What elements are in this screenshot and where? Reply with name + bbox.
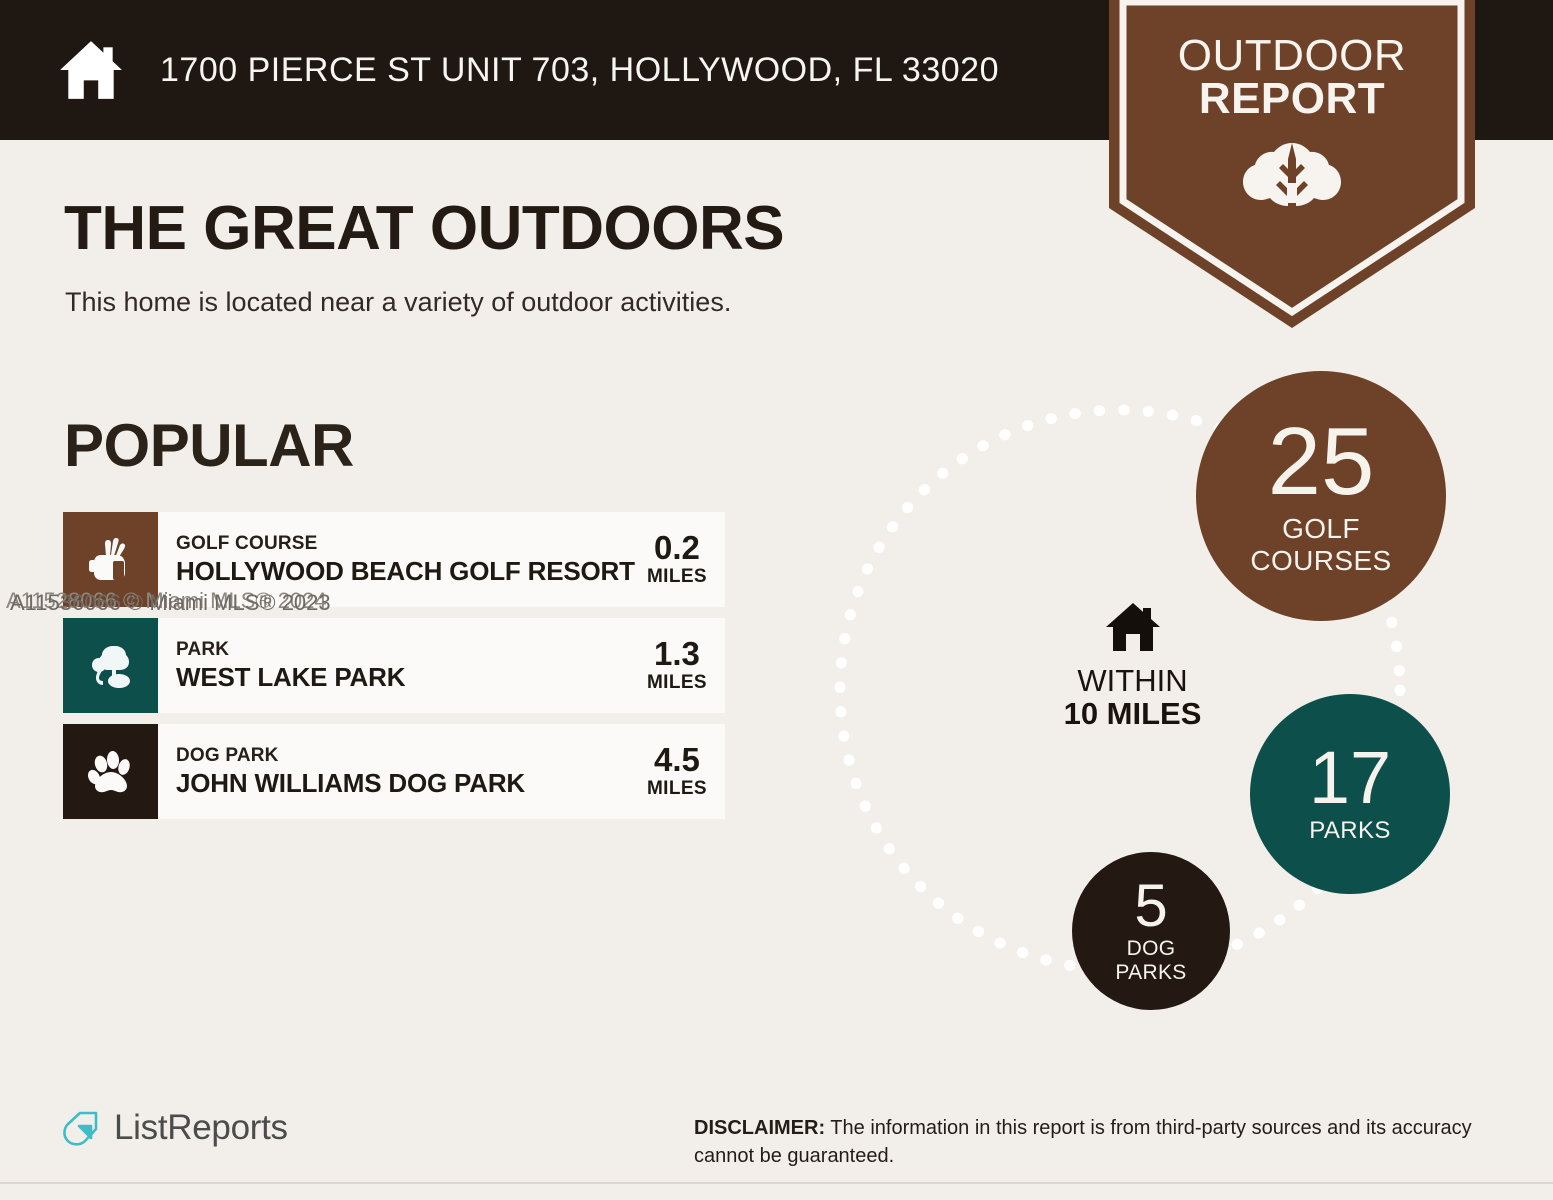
list-item[interactable]: GOLF COURSE HOLLYWOOD BEACH GOLF RESORT … [63,512,725,607]
park-trees-icon [63,618,158,713]
list-item-body: GOLF COURSE HOLLYWOOD BEACH GOLF RESORT … [158,512,725,607]
page-subtitle: This home is located near a variety of o… [65,287,731,318]
poi-category: DOG PARK [176,744,525,768]
poi-distance-value: 1.3 [647,637,707,672]
within-radius-label: WITHIN 10 MILES [1025,600,1240,731]
list-item[interactable]: DOG PARK JOHN WILLIAMS DOG PARK 4.5 MILE… [63,724,725,819]
poi-name: HOLLYWOOD BEACH GOLF RESORT [176,556,635,587]
poi-distance: 0.2 MILES [637,531,725,588]
list-item[interactable]: PARK WEST LAKE PARK 1.3 MILES [63,618,725,713]
poi-distance: 1.3 MILES [637,637,725,694]
poi-name: JOHN WILLIAMS DOG PARK [176,768,525,799]
popular-list: GOLF COURSE HOLLYWOOD BEACH GOLF RESORT … [63,512,725,830]
golf-bag-icon [63,512,158,607]
disclaimer-label: DISCLAIMER: [694,1117,825,1139]
poi-distance-value: 0.2 [647,531,707,566]
stat-label-line-2: PARKS [1115,961,1186,985]
property-address: 1700 PIERCE ST UNIT 703, HOLLYWOOD, FL 3… [160,51,999,90]
outdoor-report-badge: OUTDOOR REPORT [1109,0,1475,328]
poi-distance-unit: MILES [647,672,707,694]
stat-value: 17 [1309,743,1391,813]
within-line-2: 10 MILES [1025,697,1240,730]
list-item-body: DOG PARK JOHN WILLIAMS DOG PARK 4.5 MILE… [158,724,725,819]
brand-name: ListReports [114,1108,288,1148]
poi-category: GOLF COURSE [176,532,635,556]
poi-distance-unit: MILES [647,566,707,588]
popular-section-heading: POPULAR [64,411,354,480]
home-icon [1104,600,1162,654]
disclaimer: DISCLAIMER: The information in this repo… [694,1114,1494,1171]
stat-label-line-1: GOLF [1282,513,1360,544]
within-line-1: WITHIN [1025,664,1240,697]
poi-distance: 4.5 MILES [637,743,725,800]
stat-label-line-1: DOG [1127,937,1176,961]
poi-distance-unit: MILES [647,778,707,800]
listreports-logo-icon [62,1108,102,1148]
list-item-body: PARK WEST LAKE PARK 1.3 MILES [158,618,725,713]
stat-circle-dog-parks: 5 DOG PARKS [1072,852,1230,1010]
poi-distance-value: 4.5 [647,743,707,778]
paw-print-icon [63,724,158,819]
poi-name: WEST LAKE PARK [176,662,405,693]
stat-value: 5 [1134,877,1167,934]
stat-label-line-1: PARKS [1309,818,1391,845]
stat-label-line-2: COURSES [1250,545,1391,576]
stat-circle-parks: 17 PARKS [1250,694,1450,894]
home-icon [58,39,124,101]
poi-category: PARK [176,638,405,662]
listreports-brand[interactable]: ListReports [62,1108,288,1148]
outdoor-report-page: 1700 PIERCE ST UNIT 703, HOLLYWOOD, FL 3… [0,0,1553,1200]
stat-value: 25 [1268,416,1375,507]
footer-divider [0,1182,1553,1184]
page-title: THE GREAT OUTDOORS [64,193,784,264]
stat-circle-golf-courses: 25 GOLF COURSES [1196,371,1446,621]
within-10-miles-infographic: WITHIN 10 MILES 25 GOLF COURSES 17 PARKS… [810,340,1510,1040]
